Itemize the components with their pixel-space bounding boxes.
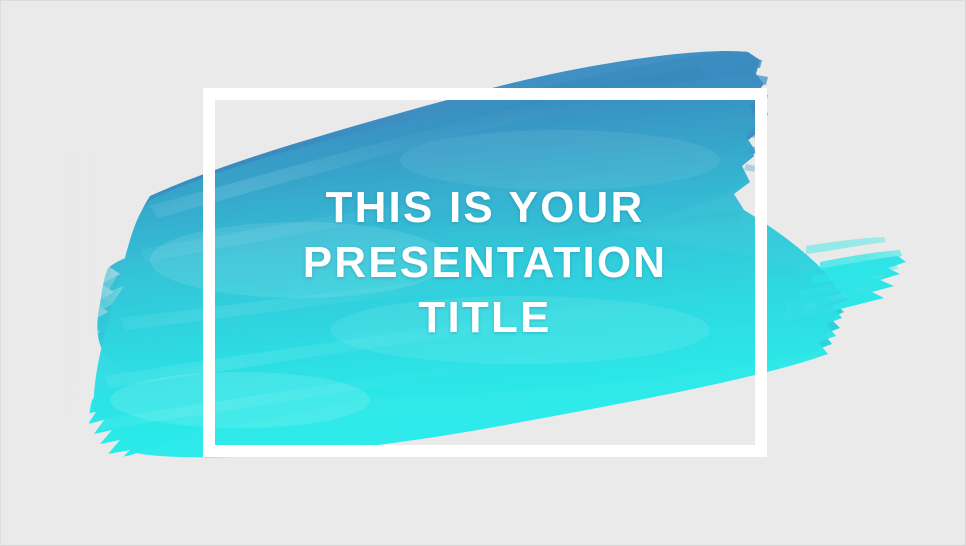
page-title: THIS IS YOUR PRESENTATION TITLE — [203, 180, 767, 345]
title-line-3: TITLE — [203, 290, 767, 345]
title-line-2: PRESENTATION — [203, 235, 767, 290]
presentation-slide: THIS IS YOUR PRESENTATION TITLE — [0, 0, 966, 546]
title-line-1: THIS IS YOUR — [203, 180, 767, 235]
